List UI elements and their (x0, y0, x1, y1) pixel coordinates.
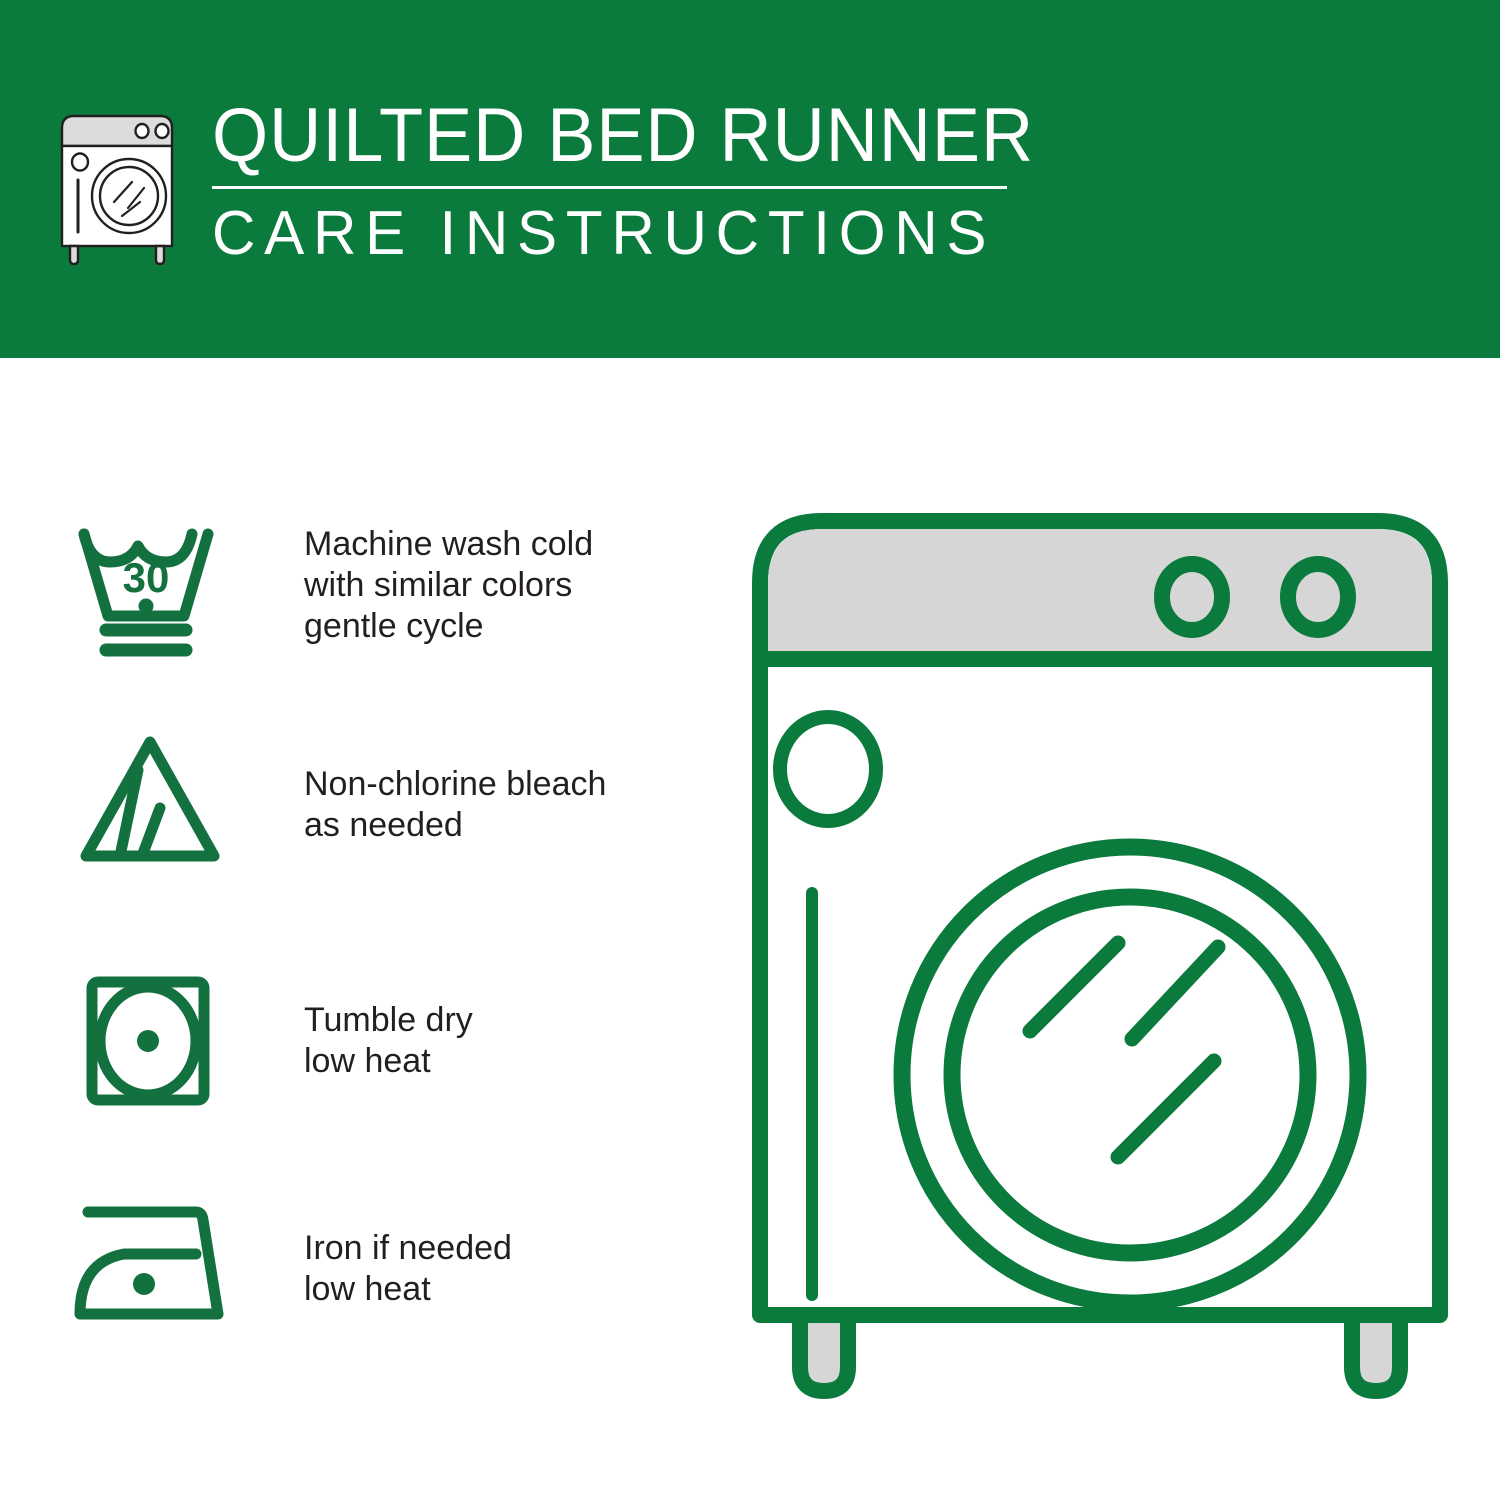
non-chlorine-bleach-icon (72, 730, 232, 870)
header-banner: QUILTED BED RUNNER CARE INSTRUCTIONS (0, 0, 1500, 358)
washing-machine-icon (52, 104, 182, 269)
care-instructions-list: 30 Machine wash cold with similar colors… (0, 358, 700, 1500)
washing-machine-illustration (740, 495, 1460, 1425)
control-panel (768, 529, 1432, 659)
care-item-bleach-text: Non-chlorine bleach as needed (304, 730, 606, 846)
care-line: as needed (304, 805, 606, 846)
care-item-bleach: Non-chlorine bleach as needed (72, 730, 672, 870)
care-line: with similar colors (304, 565, 593, 606)
care-line: low heat (304, 1041, 473, 1082)
care-item-machine-wash: 30 Machine wash cold with similar colors… (72, 520, 672, 660)
care-item-tumble-dry-text: Tumble dry low heat (304, 970, 473, 1082)
title-block: QUILTED BED RUNNER CARE INSTRUCTIONS (212, 96, 1077, 267)
machine-wash-30-gentle-icon: 30 (72, 520, 232, 660)
wash-temperature-label: 30 (123, 554, 170, 601)
care-line: Non-chlorine bleach (304, 764, 606, 805)
wash-dot-icon (139, 599, 154, 614)
care-item-tumble-dry: Tumble dry low heat (72, 970, 672, 1110)
care-line: Machine wash cold (304, 524, 593, 565)
iron-heat-dot-icon (133, 1273, 155, 1295)
leg-left (800, 1315, 848, 1391)
tumble-dry-low-icon (72, 970, 232, 1110)
title-divider (212, 186, 1007, 189)
dry-heat-dot-icon (137, 1030, 159, 1052)
iron-low-heat-icon (72, 1196, 232, 1336)
page-subtitle: CARE INSTRUCTIONS (212, 201, 1051, 267)
header-content: QUILTED BED RUNNER CARE INSTRUCTIONS (52, 96, 1077, 269)
care-line: Tumble dry (304, 1000, 473, 1041)
care-item-machine-wash-text: Machine wash cold with similar colors ge… (304, 520, 593, 647)
washing-machine-graphic (740, 495, 1460, 1425)
care-line: low heat (304, 1269, 512, 1310)
care-item-iron-text: Iron if needed low heat (304, 1196, 512, 1310)
page-title: QUILTED BED RUNNER (212, 96, 1034, 176)
care-item-iron: Iron if needed low heat (72, 1196, 672, 1336)
care-line: gentle cycle (304, 606, 593, 647)
care-line: Iron if needed (304, 1228, 512, 1269)
leg-right (1352, 1315, 1400, 1391)
